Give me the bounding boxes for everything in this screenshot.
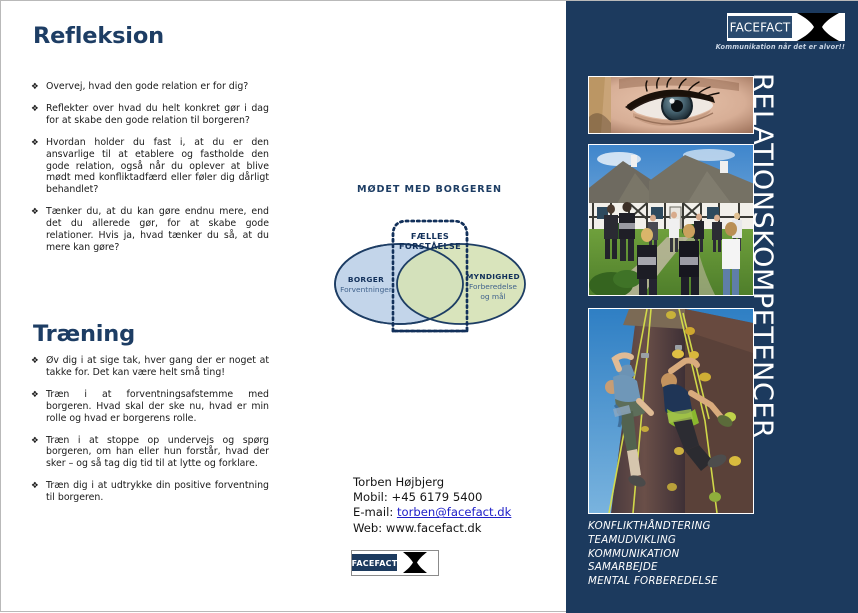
list-item-text: Tænker du, at du kan gøre endnu mere, en… (46, 206, 269, 253)
list-item-text: Øv dig i at sige tak, hver gang der er n… (46, 355, 269, 378)
logo-wordmark: FACEFACT (352, 559, 398, 568)
eye-closeup-photo (588, 76, 754, 134)
center-content-column: MØDET MED BORGEREN FÆLLES FORSTÅELSE BOR… (293, 1, 566, 613)
contact-mobile-value: +45 6179 5400 (392, 490, 483, 504)
service-keyword-list: KONFLIKTHÅNDTERING TEAMUDVIKLING KOMMUNI… (588, 520, 718, 589)
list-item: ❖ Træn i at forventningsafstemme med bor… (31, 389, 269, 425)
contact-web: Web: www.facefact.dk (353, 521, 511, 536)
facefact-logo-bottom: FACEFACT (351, 550, 439, 576)
list-item: ❖ Reflekter over hvad du helt konkret gø… (31, 103, 269, 127)
contact-mobile: Mobil: +45 6179 5400 (353, 490, 511, 505)
climbing-wall-photo (588, 308, 754, 514)
overlap-label-line2: FORSTÅELSE (399, 241, 461, 251)
diamond-bullet-icon: ❖ (31, 435, 39, 447)
myndighed-title: MYNDIGHED (466, 272, 520, 281)
overlap-label-line1: FÆLLES (411, 231, 449, 241)
diamond-bullet-icon: ❖ (31, 137, 39, 149)
borger-subtitle: Forventninger (340, 285, 393, 294)
diamond-bullet-icon: ❖ (31, 103, 39, 115)
email-link[interactable]: torben@facefact.dk (397, 505, 511, 519)
group-outdoor-workshop-photo (588, 144, 754, 296)
myndighed-subtitle-1: Forberedelse (469, 282, 517, 291)
list-item: SAMARBEJDE (588, 561, 718, 575)
reflection-bullet-list: ❖ Overvej, hvad den gode relation er for… (31, 81, 269, 254)
brochure-page: Refleksion ❖ Overvej, hvad den gode rela… (0, 0, 858, 612)
diamond-bullet-icon: ❖ (31, 206, 39, 218)
logo-top-wordmark: FACEFACT (730, 21, 791, 35)
list-item: ❖ Overvej, hvad den gode relation er for… (31, 81, 269, 93)
contact-web-label: Web: (353, 521, 382, 535)
diagram-title: MØDET MED BORGEREN (293, 184, 566, 195)
list-item-text: Træn i at forventningsafstemme med borge… (46, 389, 269, 424)
list-item: KONFLIKTHÅNDTERING (588, 520, 718, 534)
contact-web-value: www.facefact.dk (386, 521, 482, 535)
list-item: ❖ Hvordan holder du fast i, at du er den… (31, 137, 269, 197)
myndighed-subtitle-2: og mål (480, 292, 505, 301)
list-item-text: Reflekter over hvad du helt konkret gør … (46, 103, 269, 126)
heading-refleksion: Refleksion (33, 23, 164, 49)
training-bullet-list: ❖ Øv dig i at sige tak, hver gang der er… (31, 355, 269, 504)
contact-email-label: E-mail: (353, 505, 393, 519)
borger-title: BORGER (348, 275, 384, 284)
facefact-logo-top: FACEFACT Kommunikation når det er alvor!… (715, 13, 845, 51)
venn-diagram: FÆLLES FORSTÅELSE BORGER Forventninger M… (319, 213, 541, 341)
list-item-text: Hvordan holder du fast i, at du er den a… (46, 137, 269, 196)
list-item: ❖ Tænker du, at du kan gøre endnu mere, … (31, 206, 269, 254)
contact-block: Torben Højbjerg Mobil: +45 6179 5400 E-m… (353, 475, 511, 536)
diamond-bullet-icon: ❖ (31, 81, 39, 93)
list-item: ❖ Træn i at stoppe op undervejs og spørg… (31, 435, 269, 471)
contact-email: E-mail: torben@facefact.dk (353, 505, 511, 520)
diamond-bullet-icon: ❖ (31, 480, 39, 492)
list-item: TEAMUDVIKLING (588, 534, 718, 548)
brand-tagline: Kommunikation når det er alvor!! (715, 43, 845, 51)
list-item: MENTAL FORBEREDELSE (588, 575, 718, 589)
left-content-column: Refleksion ❖ Overvej, hvad den gode rela… (1, 1, 293, 613)
contact-mobile-label: Mobil: (353, 490, 388, 504)
contact-name: Torben Højbjerg (353, 475, 511, 490)
list-item: ❖ Øv dig i at sige tak, hver gang der er… (31, 355, 269, 379)
list-item-text: Træn dig i at udtrykke din positive forv… (46, 480, 269, 503)
list-item: KOMMUNIKATION (588, 548, 718, 562)
right-cover-panel: FACEFACT Kommunikation når det er alvor!… (566, 1, 858, 613)
diamond-bullet-icon: ❖ (31, 389, 39, 401)
diamond-bullet-icon: ❖ (31, 355, 39, 367)
list-item-text: Træn i at stoppe op undervejs og spørg b… (46, 435, 269, 470)
heading-traening: Træning (33, 321, 135, 347)
list-item: ❖ Træn dig i at udtrykke din positive fo… (31, 480, 269, 504)
list-item-text: Overvej, hvad den gode relation er for d… (46, 81, 248, 92)
